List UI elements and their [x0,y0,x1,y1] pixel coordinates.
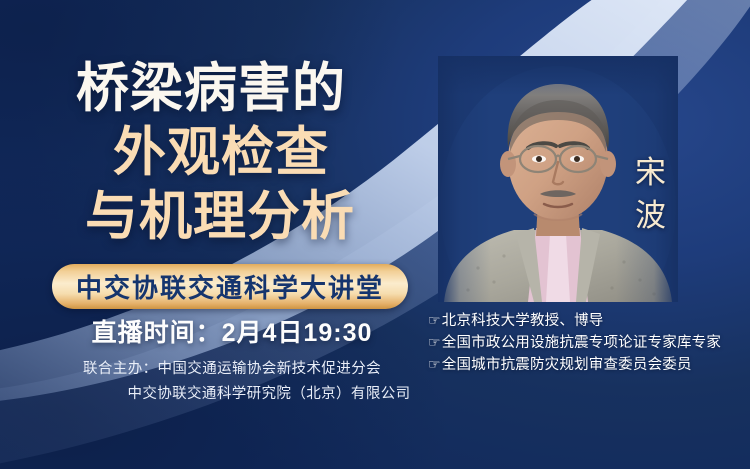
headline-line-3: 与机理分析 [0,190,420,243]
pointing-hand-icon: ☞ [428,332,441,353]
credential-text: 全国城市抗震防灾规划审查委员会委员 [442,355,692,376]
organizers: 联合主办：中国交通运输协会新技术促进分会 中交协联交通科学研究院（北京）有限公司 [0,357,464,408]
headline: 桥梁病害的 外观检查 与机理分析 [0,62,420,243]
pointing-hand-icon: ☞ [428,354,441,375]
credential-item: ☞ 全国市政公用设施抗震专项论证专家库专家 [428,332,744,354]
live-time: 直播时间：2月4日19:30 [0,313,464,349]
credential-text: 全国市政公用设施抗震专项论证专家库专家 [442,333,721,354]
webinar-poster: 宋 波 桥梁病害的 外观检查 与机理分析 中交协联交通科学大讲堂 直播时间：2月… [0,0,750,469]
headline-line-1: 桥梁病害的 [0,62,420,115]
organizer-line-2: 中交协联交通科学研究院（北京）有限公司 [0,382,464,407]
series-badge: 中交协联交通科学大讲堂 [52,264,408,309]
headline-line-2: 外观检查 [0,126,420,179]
pointing-hand-icon: ☞ [428,310,441,331]
credential-text: 北京科技大学教授、博导 [442,311,604,332]
speaker-name: 宋 波 [628,152,674,238]
speaker-name-char-2: 波 [628,195,674,238]
speaker-credentials: ☞ 北京科技大学教授、博导 ☞ 全国市政公用设施抗震专项论证专家库专家 ☞ 全国… [428,310,744,376]
credential-item: ☞ 北京科技大学教授、博导 [428,310,744,332]
credential-item: ☞ 全国城市抗震防灾规划审查委员会委员 [428,354,744,376]
organizer-line-1: 联合主办：中国交通运输协会新技术促进分会 [0,357,464,382]
speaker-name-char-1: 宋 [628,152,674,195]
series-badge-label: 中交协联交通科学大讲堂 [76,268,384,305]
